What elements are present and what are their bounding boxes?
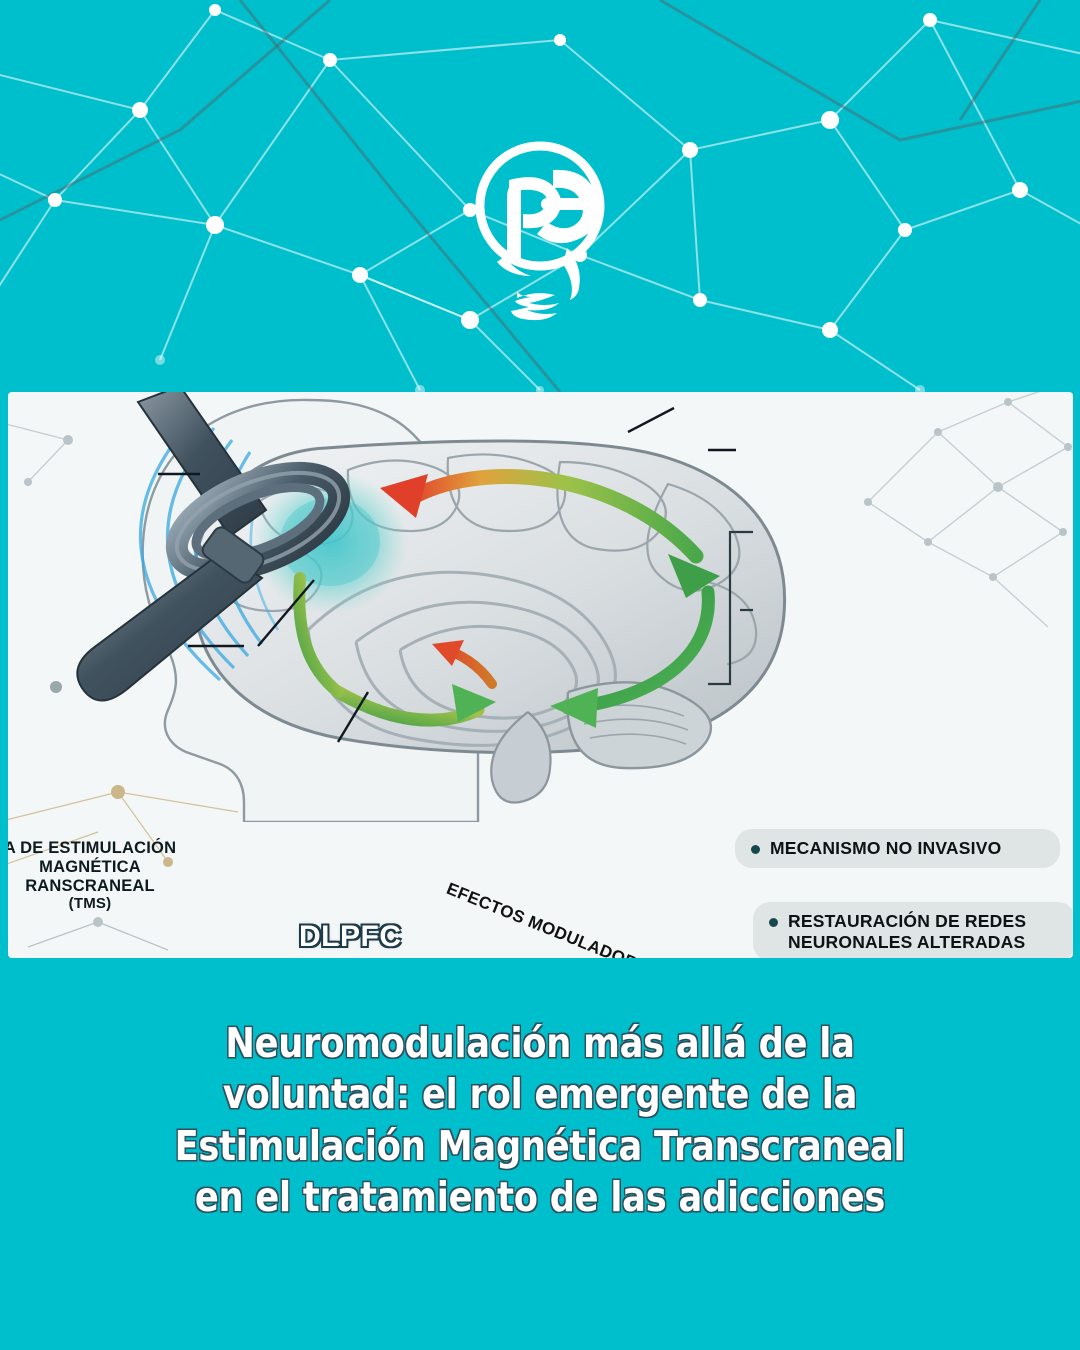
title-line-4: en el tratamiento de las adicciones — [76, 1172, 1005, 1223]
pe-lightbulb-logo-icon — [445, 128, 635, 328]
callout-2-line2: NEURONALES ALTERADAS — [788, 932, 1025, 952]
callout-2-line1: RESTAURACIÓN DE REDES — [788, 911, 1026, 931]
post-title: Neuromodulación más allá de la voluntad:… — [0, 1018, 1080, 1223]
coil-label-line4: (TMS) — [8, 895, 208, 912]
title-line-3: Estimulación Magnética Transcraneal — [76, 1121, 1005, 1172]
bullet-dot-icon — [769, 918, 778, 927]
callout-mecanismo-no-invasivo: MECANISMO NO INVASIVO — [735, 829, 1060, 868]
coil-label-line3: RANSCRANEAL — [8, 877, 208, 896]
callout-2-text: RESTAURACIÓN DE REDES NEURONALES ALTERAD… — [788, 911, 1026, 952]
title-line-1: Neuromodulación más allá de la — [76, 1018, 1005, 1069]
callout-restauracion-redes: RESTAURACIÓN DE REDES NEURONALES ALTERAD… — [753, 902, 1073, 958]
dlpfc-region-label: DLPFC — [299, 920, 402, 954]
bullet-dot-icon — [751, 845, 760, 854]
coil-label-line1: A DE ESTIMULACIÓN — [8, 839, 208, 858]
callout-1-text: MECANISMO NO INVASIVO — [770, 838, 1001, 859]
tms-coil-label: A DE ESTIMULACIÓN MAGNÉTICA RANSCRANEAL … — [8, 839, 208, 912]
brand-logo — [0, 128, 1080, 328]
infographic-panel: EFECTOS MODULADORES DLPFC NAc VTA A DE E… — [8, 392, 1073, 958]
coil-label-line2: MAGNÉTICA — [8, 858, 208, 877]
brain-diagram — [8, 392, 1073, 822]
title-line-2: voluntad: el rol emergente de la — [76, 1069, 1005, 1120]
